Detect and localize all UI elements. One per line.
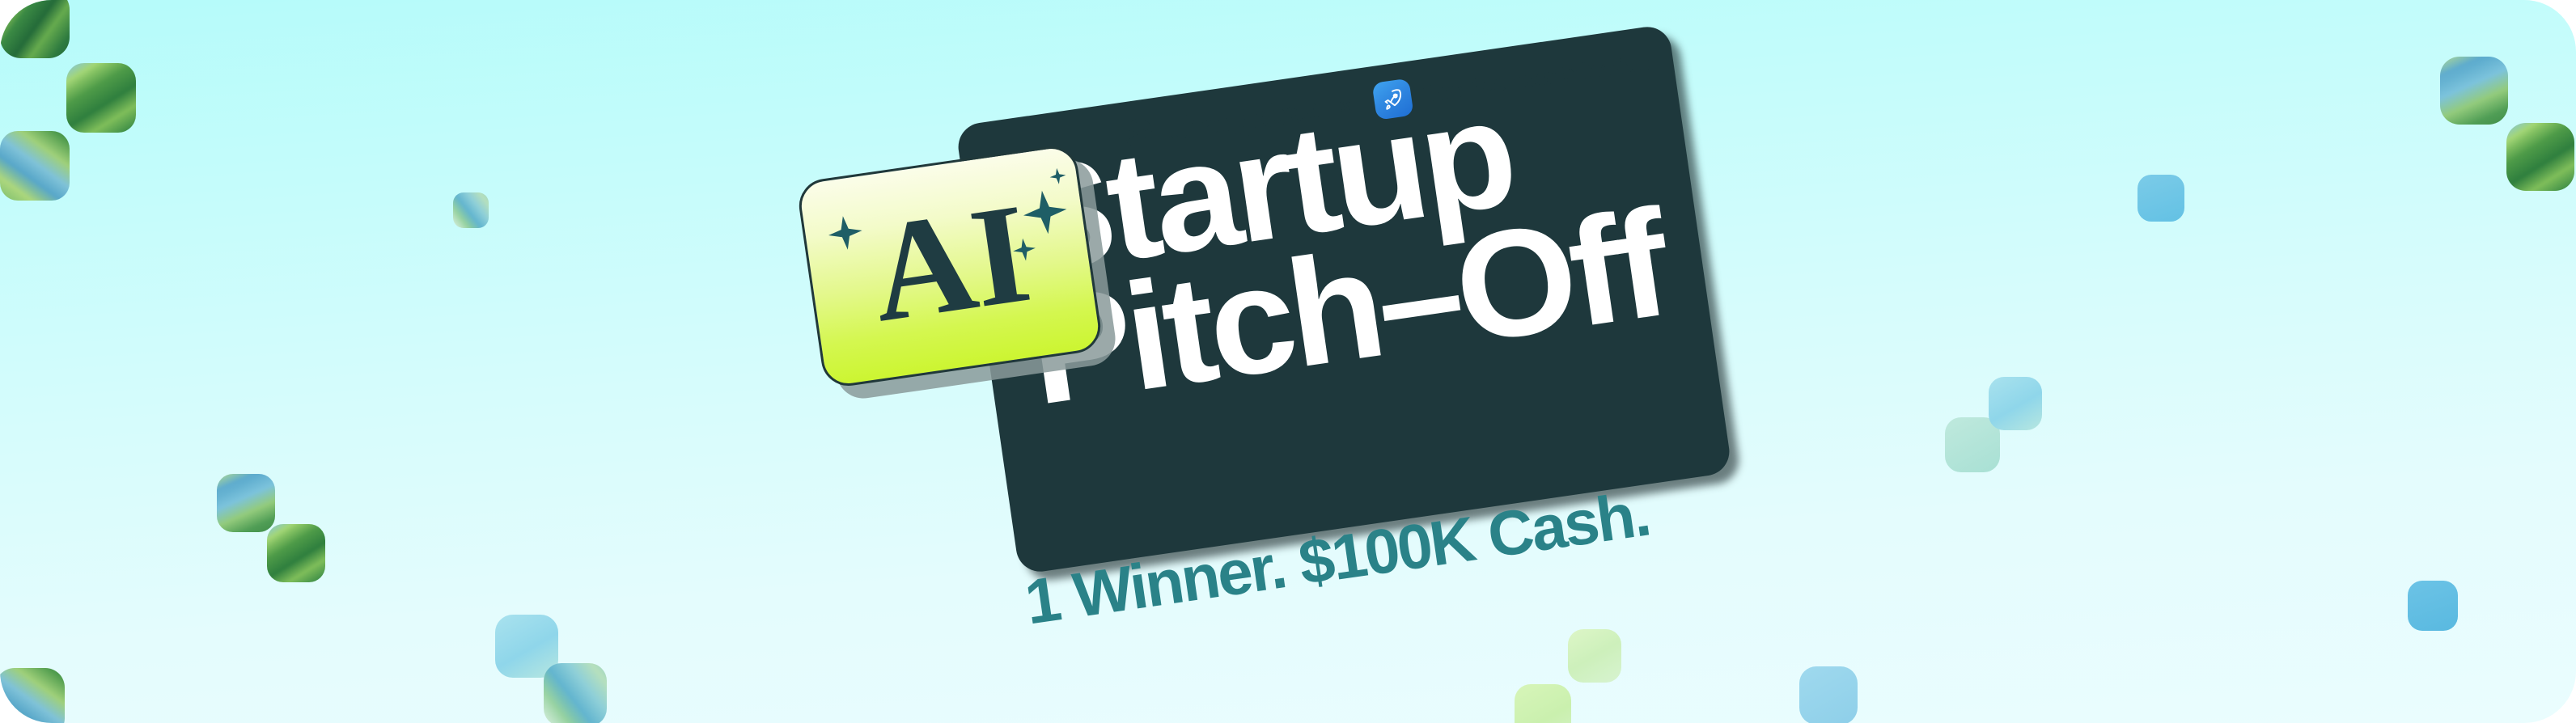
tile-texture: [2440, 57, 2508, 125]
tile-left-mid: [0, 131, 70, 201]
tile-bottom-left-edge: [0, 668, 65, 723]
ai-badge-label: AI: [862, 182, 1036, 345]
sparkle-icon: [824, 212, 866, 254]
sparkle-icon: [1019, 186, 1072, 239]
tile-texture: [2506, 123, 2574, 191]
tile-texture: [1515, 684, 1571, 723]
tile-texture: [1799, 666, 1858, 723]
tile-texture: [0, 131, 70, 201]
ai-badge-face: AI: [795, 143, 1104, 390]
ai-badge: AI: [795, 143, 1104, 390]
tile-top-right-1: [2440, 57, 2508, 125]
chargebee-pinwheel-icon: [1119, 113, 1160, 158]
tile-texture: [1989, 377, 2042, 430]
promo-banner: Startup Pitch–Off AI: [0, 0, 2576, 723]
tile-texture: [2408, 581, 2458, 631]
tile-top-left-corner: [0, 0, 70, 58]
tile-upper-left-2: [66, 63, 136, 133]
tile-texture: [66, 63, 136, 133]
tile-bottom-blue-right: [1799, 666, 1858, 723]
tile-texture: [1568, 629, 1621, 683]
tile-texture: [2137, 175, 2184, 222]
tile-bottom-mid-2: [544, 663, 607, 723]
tile-texture: [453, 192, 489, 228]
tile-texture: [0, 668, 65, 723]
tile-right-blue-solid: [2137, 175, 2184, 222]
tile-right-skyleaf: [1989, 377, 2042, 430]
tile-texture: [544, 663, 607, 723]
tile-texture: [0, 0, 70, 58]
tile-right-blue-lower: [2408, 581, 2458, 631]
tile-texture: [267, 524, 325, 582]
sparkle-icon: [1010, 236, 1038, 264]
tile-bottom-green-1: [1568, 629, 1621, 683]
rocket-icon: [1371, 78, 1413, 120]
tile-bottom-green-2: [1515, 684, 1571, 723]
partner-separator-icon: ×: [1337, 90, 1355, 120]
tile-top-right-2: [2506, 123, 2574, 191]
tile-left-small: [453, 192, 489, 228]
tile-left-lower-2: [267, 524, 325, 582]
sparkle-icon: [1048, 166, 1068, 186]
